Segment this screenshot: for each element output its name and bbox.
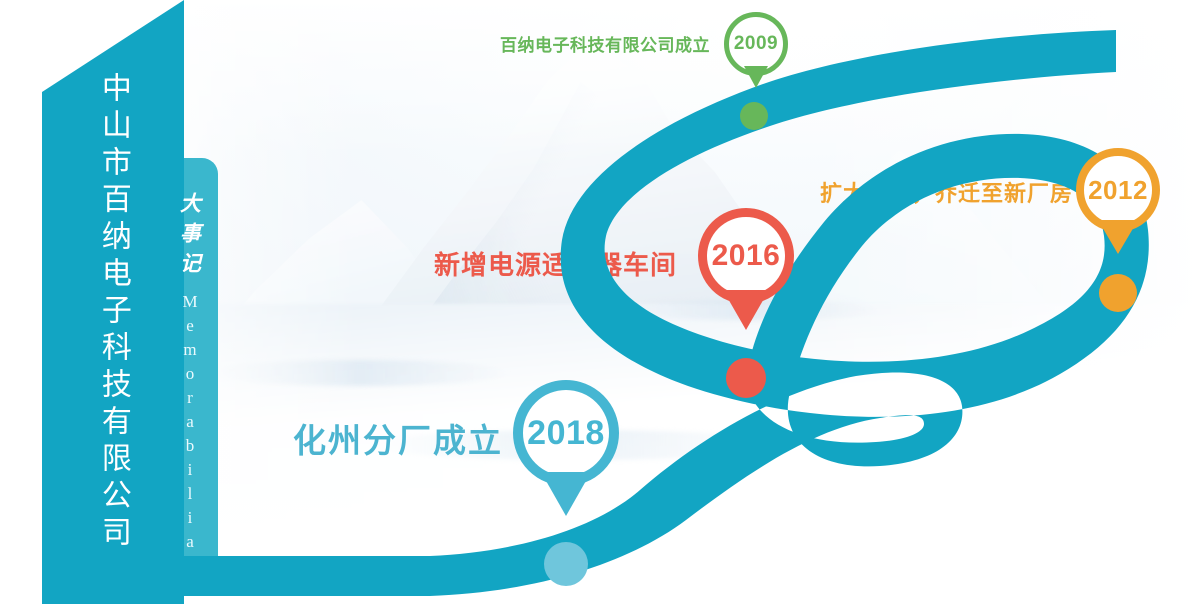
milestone-label-2009: 百纳电子科技有限公司成立 — [500, 31, 710, 56]
company-name-text: 中山市百纳电子科技有限公司 — [97, 72, 129, 553]
timeline-infographic: 中山市百纳电子科技有限公司 大事记 Memorabilia 2009 百纳电子科… — [0, 0, 1200, 604]
milestone-marker-2018[interactable]: 2018 — [513, 380, 619, 544]
pin-tail-2018 — [541, 472, 591, 516]
section-title-en: Memorabilia — [180, 292, 200, 556]
pin-circle-2018[interactable]: 2018 — [513, 380, 619, 486]
pin-tail-2012 — [1098, 220, 1138, 254]
milestone-label-2016: 新增电源适配器车间 — [434, 245, 677, 282]
pin-year-2009: 2009 — [734, 33, 778, 55]
milestone-label-2018: 化州分厂成立 — [293, 414, 503, 462]
pin-year-2016: 2016 — [712, 239, 781, 273]
road-dot-2009 — [740, 102, 768, 130]
mountain-background-image — [150, 0, 1200, 604]
milestone-marker-2012[interactable]: 2012 — [1076, 148, 1160, 278]
pin-year-2012: 2012 — [1088, 175, 1148, 206]
section-title-cn: 大事记 — [175, 192, 205, 282]
milestone-label-2012: 扩大生产，乔迁至新厂房 — [820, 176, 1073, 208]
section-title-block: 大事记 Memorabilia — [161, 158, 218, 556]
road-dot-2018 — [544, 542, 588, 586]
pin-tail-2016 — [723, 290, 769, 330]
background-edge-fade — [150, 0, 1200, 604]
road-dot-2012 — [1099, 274, 1137, 312]
pin-year-2018: 2018 — [527, 414, 605, 453]
road-dot-2016 — [726, 358, 766, 398]
milestone-marker-2016[interactable]: 2016 — [698, 208, 794, 358]
milestone-marker-2009[interactable]: 2009 — [724, 12, 788, 104]
pin-tail-2009 — [744, 66, 768, 88]
